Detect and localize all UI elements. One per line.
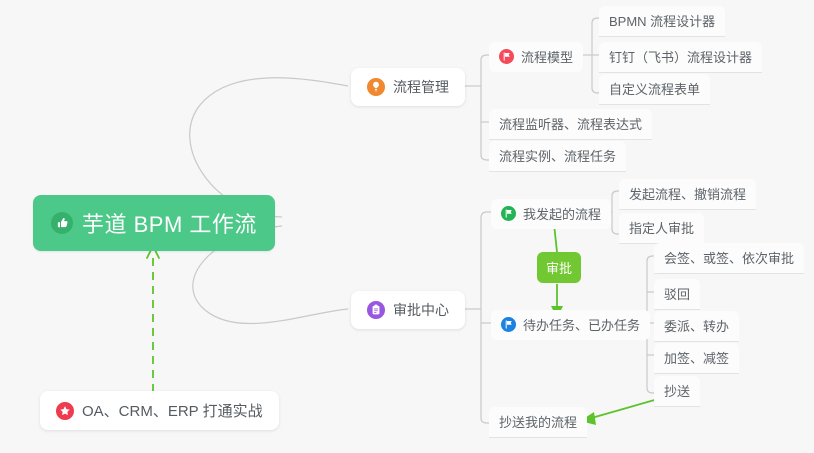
node-process-instance[interactable]: 流程实例、流程任务	[489, 141, 626, 172]
node-cc-my-process[interactable]: 抄送我的流程	[489, 407, 587, 438]
node-delegate-transfer-label: 委派、转办	[664, 316, 729, 335]
node-start-cancel-process[interactable]: 发起流程、撤销流程	[619, 179, 756, 210]
node-assignee-approval[interactable]: 指定人审批	[619, 213, 704, 244]
node-cc-my-process-label: 抄送我的流程	[499, 412, 577, 431]
node-process-instance-label: 流程实例、流程任务	[499, 146, 616, 165]
lightbulb-icon	[367, 78, 385, 96]
branch-approval-center[interactable]: 审批中心	[351, 291, 465, 329]
node-todo-done-tasks-label: 待办任务、已办任务	[523, 315, 640, 334]
branch-process-management[interactable]: 流程管理	[351, 68, 465, 106]
branch-approval-center-label: 审批中心	[393, 300, 449, 320]
node-cc[interactable]: 抄送	[654, 376, 700, 407]
node-countersign-label: 会签、或签、依次审批	[664, 248, 794, 267]
node-start-cancel-process-label: 发起流程、撤销流程	[629, 184, 746, 203]
root-node[interactable]: 芋道 BPM 工作流	[33, 195, 275, 251]
node-reject-label: 驳回	[664, 284, 690, 303]
thumbs-up-icon	[51, 212, 73, 234]
node-integration-practice-label: OA、CRM、ERP 打通实战	[82, 400, 263, 421]
node-bpmn-designer-label: BPMN 流程设计器	[609, 11, 715, 30]
flag-icon-green	[501, 206, 516, 221]
node-process-listener-label: 流程监听器、流程表达式	[499, 114, 642, 133]
node-integration-practice[interactable]: OA、CRM、ERP 打通实战	[40, 391, 279, 430]
mindmap-canvas: 芋道 BPM 工作流 流程管理 流程模型 BPMN 流程设计器 钉钉（飞书）流	[0, 0, 814, 453]
node-cc-label: 抄送	[664, 381, 690, 400]
node-bpmn-designer[interactable]: BPMN 流程设计器	[599, 6, 725, 37]
node-todo-done-tasks[interactable]: 待办任务、已办任务	[491, 310, 650, 340]
node-dingtalk-designer-label: 钉钉（飞书）流程设计器	[609, 47, 752, 66]
node-assignee-approval-label: 指定人审批	[629, 218, 694, 237]
root-label: 芋道 BPM 工作流	[82, 207, 257, 239]
branch-process-management-label: 流程管理	[393, 77, 449, 97]
clipboard-icon	[367, 301, 385, 319]
arrow-cc-line	[588, 399, 658, 419]
star-icon	[56, 402, 74, 420]
node-custom-form[interactable]: 自定义流程表单	[599, 74, 710, 105]
node-custom-form-label: 自定义流程表单	[609, 79, 700, 98]
node-add-remove-sign-label: 加签、减签	[664, 348, 729, 367]
node-process-listener[interactable]: 流程监听器、流程表达式	[489, 109, 652, 140]
approval-tag[interactable]: 审批	[537, 252, 581, 283]
node-process-model[interactable]: 流程模型	[489, 42, 583, 72]
node-my-started-process[interactable]: 我发起的流程	[491, 199, 611, 229]
node-delegate-transfer[interactable]: 委派、转办	[654, 311, 739, 342]
node-process-model-label: 流程模型	[521, 47, 573, 66]
node-reject[interactable]: 驳回	[654, 279, 700, 310]
node-add-remove-sign[interactable]: 加签、减签	[654, 343, 739, 374]
flag-icon-red	[499, 49, 514, 64]
node-countersign[interactable]: 会签、或签、依次审批	[654, 243, 804, 274]
node-my-started-process-label: 我发起的流程	[523, 204, 601, 223]
node-dingtalk-designer[interactable]: 钉钉（飞书）流程设计器	[599, 42, 762, 73]
flag-icon-blue	[501, 317, 516, 332]
